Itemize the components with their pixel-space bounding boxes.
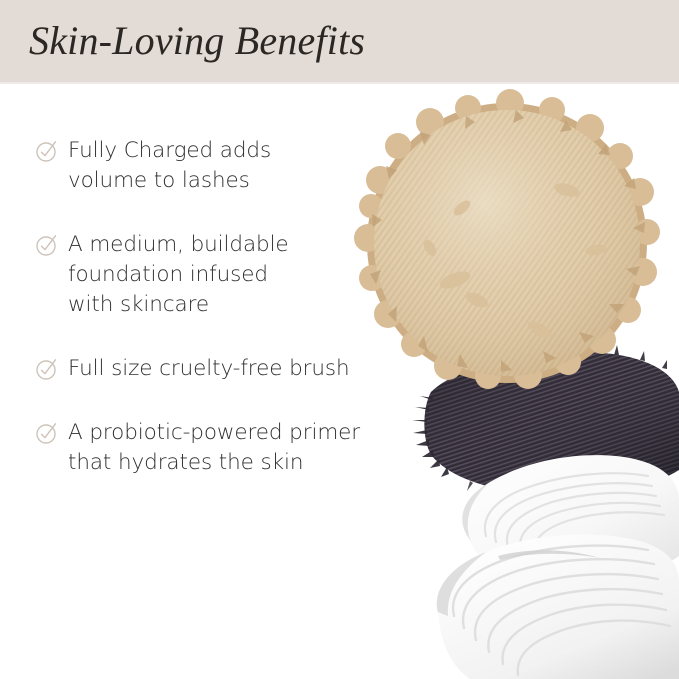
check-circle-icon (36, 233, 58, 257)
cream-swirl-swatch (437, 455, 679, 679)
mascara-stroke-swatch (412, 340, 679, 504)
benefits-infographic: Skin-Loving Benefits (0, 0, 679, 679)
benefit-item-2: A medium, buildable foundation infused w… (36, 230, 436, 320)
benefit-text: Fully Charged adds volume to lashes (68, 136, 271, 196)
check-circle-icon (36, 421, 58, 445)
check-circle-icon (36, 357, 58, 381)
benefit-item-1: Fully Charged adds volume to lashes (36, 136, 436, 196)
check-circle-icon (36, 139, 58, 163)
benefit-item-3: Full size cruelty-free brush (36, 354, 436, 384)
page-title: Skin-Loving Benefits (29, 17, 365, 64)
benefit-text: A probiotic-powered primer that hydrates… (68, 418, 360, 478)
benefit-item-4: A probiotic-powered primer that hydrates… (36, 418, 436, 478)
benefit-text: Full size cruelty-free brush (68, 354, 350, 384)
header-band: Skin-Loving Benefits (0, 0, 679, 84)
benefits-list: Fully Charged adds volume to lashes A me… (36, 136, 436, 478)
benefit-text: A medium, buildable foundation infused w… (68, 230, 289, 320)
